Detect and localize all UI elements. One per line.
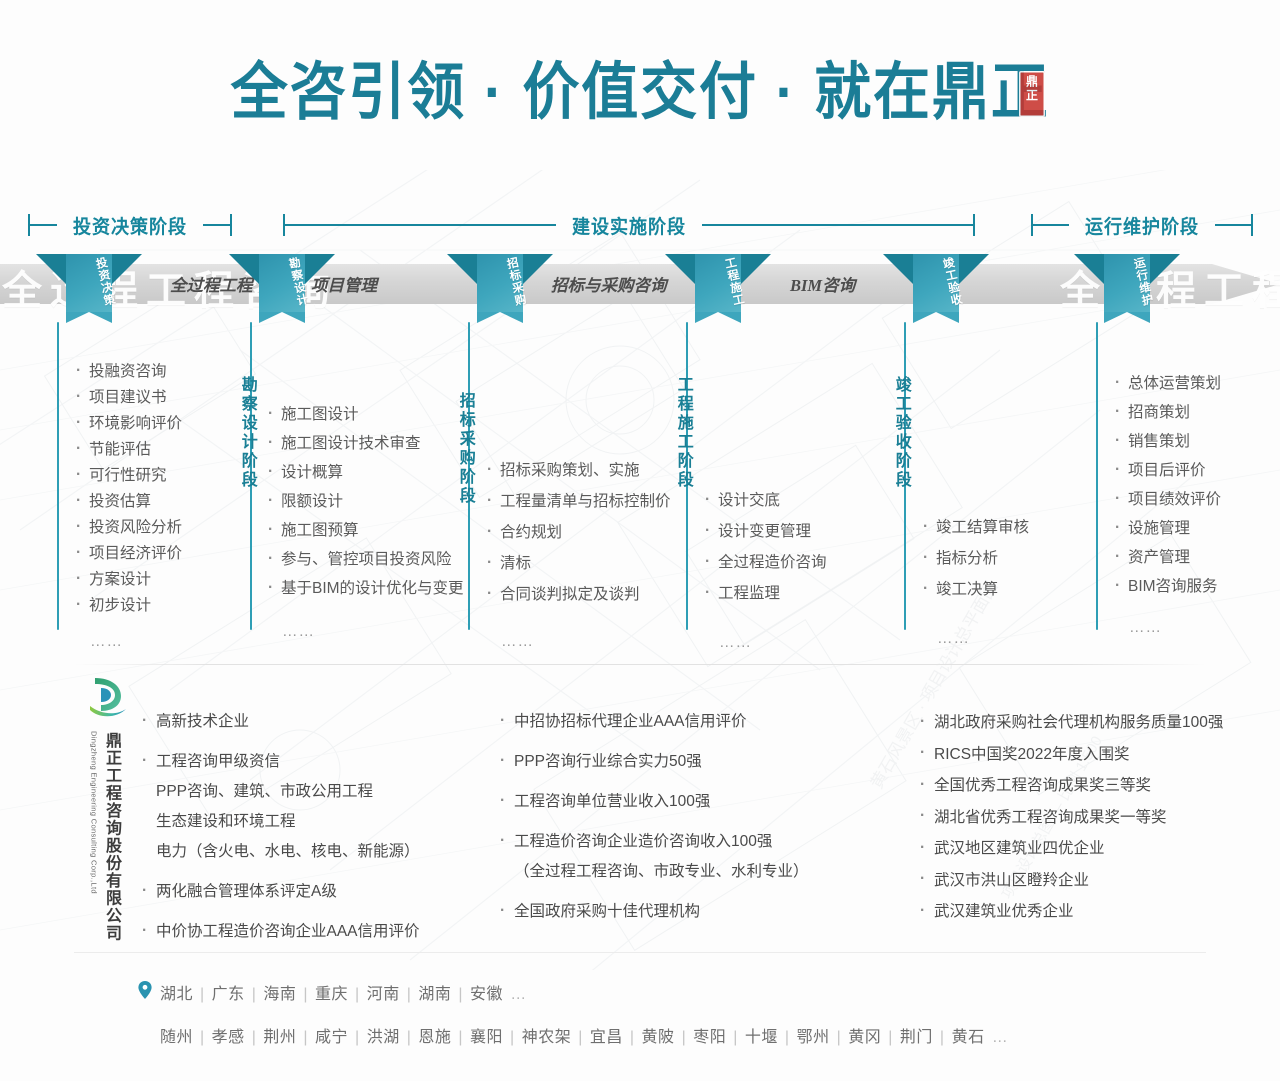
stage-list-construction: 设计交底 设计变更管理 全过程造价咨询 工程监理 …… — [705, 485, 827, 658]
rule-line — [203, 224, 230, 226]
footer-separator: | — [623, 1029, 642, 1046]
ribbon-tail-left — [883, 254, 913, 284]
credential-subitem: 电力（含火电、水电、核电、新能源） — [142, 837, 420, 867]
footer-separator: | — [348, 986, 367, 1003]
infographic-root: 黄石风景区 · 项目设计总平面图 项目设计总图 — 比例 1:500 全咨引领 … — [0, 0, 1280, 1081]
list-item: 施工图设计技术审查 — [268, 429, 464, 458]
rule-line — [1215, 224, 1251, 226]
credentials-column-1: 高新技术企业 工程咨询甲级资信 PPP咨询、建筑、市政公用工程 生态建设和环境工… — [142, 707, 420, 947]
footer-location: 广东 — [212, 986, 245, 1003]
phase-header-investment: 投资决策阶段 — [28, 210, 232, 240]
credential-item: PPP咨询行业综合实力50强 — [500, 747, 809, 777]
list-ellipsis: …… — [923, 623, 1029, 654]
list-item: 投融资咨询 — [76, 359, 182, 385]
ribbon-tail-left — [447, 254, 477, 284]
company-logo-icon — [88, 676, 128, 718]
list-item: 方案设计 — [76, 567, 182, 593]
footer-location: 荆州 — [263, 1029, 296, 1046]
seal-char-2: 正 — [1020, 89, 1044, 102]
credential-item: 湖北省优秀工程咨询成果奖一等奖 — [920, 802, 1223, 834]
ribbon-tag-bidding-procurement: 招标采购 — [477, 254, 523, 322]
credentials-column-2: 中招协招标代理企业AAA信用评价 PPP咨询行业综合实力50强 工程咨询单位营业… — [500, 707, 809, 927]
list-item: 指标分析 — [923, 543, 1029, 574]
footer-separator: | — [675, 1029, 694, 1046]
footer-provinces-row: 湖北|广东|海南|重庆|河南|湖南|安徽... — [160, 980, 526, 1004]
stage-title-survey-design: 勘察设计阶段 — [238, 376, 255, 490]
credential-item: 武汉市洪山区瞪羚企业 — [920, 865, 1223, 897]
list-item: 竣工决算 — [923, 574, 1029, 605]
footer-location: 鄂州 — [797, 1029, 830, 1046]
stage-title-completion: 竣工验收阶段 — [892, 376, 909, 490]
footer-divider — [74, 952, 1206, 953]
ribbon-tag-survey-design: 勘察设计 — [259, 254, 305, 322]
rule-line — [285, 224, 556, 226]
footer-separator: | — [503, 1029, 522, 1046]
list-ellipsis: …… — [76, 629, 182, 655]
footer-separator: | — [451, 1029, 470, 1046]
ribbon-tag-operation-maintenance: 运行维护 — [1104, 254, 1150, 322]
footer-separator: | — [245, 1029, 264, 1046]
phase-header-operation: 运行维护阶段 — [1031, 210, 1253, 240]
footer-cities-row: 随州|孝感|荆州|咸宁|洪湖|恩施|襄阳|神农架|宜昌|黄陂|枣阳|十堰|鄂州|… — [160, 1023, 1007, 1047]
footer-location: 宜昌 — [590, 1029, 623, 1046]
footer-separator: | — [193, 986, 212, 1003]
page-title-wrap: 全咨引领 · 价值交付 · 就在鼎正 — [0, 62, 1280, 124]
credential-subitem: PPP咨询、建筑、市政公用工程 — [142, 777, 420, 807]
list-item: 项目经济评价 — [76, 541, 182, 567]
credential-item: 全国政府采购十佳代理机构 — [500, 897, 809, 927]
credential-item: 武汉建筑业优秀企业 — [920, 896, 1223, 928]
stage-list-survey-design: 施工图设计 施工图设计技术审查 设计概算 限额设计 施工图预算 参与、管控项目投… — [268, 400, 464, 646]
company-seal-stamp: 鼎 正 — [1019, 71, 1045, 117]
rule-cap-right — [230, 214, 232, 236]
footer-location: 黄冈 — [848, 1029, 881, 1046]
footer-location: 咸宁 — [315, 1029, 348, 1046]
list-item: 项目绩效评价 — [1115, 485, 1221, 514]
stage-list-completion: 竣工结算审核 指标分析 竣工决算 …… — [923, 512, 1029, 654]
list-item: 工程监理 — [705, 578, 827, 609]
footer-location: 湖南 — [418, 986, 451, 1003]
list-item: 施工图预算 — [268, 516, 464, 545]
section-divider — [74, 664, 1206, 665]
footer-location: 海南 — [263, 986, 296, 1003]
footer-location: 洪湖 — [367, 1029, 400, 1046]
credential-item: RICS中国奖2022年度入围奖 — [920, 739, 1223, 771]
stage-divider-6 — [1096, 322, 1098, 630]
list-item: 参与、管控项目投资风险 — [268, 545, 464, 574]
list-item: 工程量清单与招标控制价 — [487, 486, 671, 517]
footer-location: 枣阳 — [693, 1029, 726, 1046]
footer-separator: | — [193, 1029, 212, 1046]
location-pin-icon — [138, 981, 152, 999]
list-item: 设计变更管理 — [705, 516, 827, 547]
credential-item: 工程咨询甲级资信 — [142, 747, 420, 777]
credential-subitem: （全过程工程咨询、市政专业、水利专业） — [500, 857, 809, 887]
list-ellipsis: …… — [268, 617, 464, 646]
credential-item: 高新技术企业 — [142, 707, 420, 737]
footer-location: 重庆 — [315, 986, 348, 1003]
credential-item: 两化融合管理体系评定A级 — [142, 877, 420, 907]
company-name-en: Dingzheng Engineering Consulting Corp.,L… — [90, 731, 98, 894]
list-item: 清标 — [487, 548, 671, 579]
ribbon-tail-left — [665, 254, 695, 284]
ribbon-tag-investment-decision: 投资决策 — [66, 254, 112, 322]
stage-list-bidding: 招标采购策划、实施 工程量清单与招标控制价 合约规划 清标 合同谈判拟定及谈判 … — [487, 455, 671, 657]
footer-separator: | — [778, 1029, 797, 1046]
ribbon-tail-left — [1074, 254, 1104, 284]
phase-header-label: 建设实施阶段 — [560, 212, 699, 239]
credential-item: 中价协工程造价咨询企业AAA信用评价 — [142, 917, 420, 947]
ribbon-tail-right — [741, 254, 771, 284]
list-item: 合同谈判拟定及谈判 — [487, 579, 671, 610]
footer-separator: | — [296, 986, 315, 1003]
ribbon-tail-right — [1150, 254, 1180, 284]
footer-separator: | — [348, 1029, 367, 1046]
list-item: 项目建议书 — [76, 385, 182, 411]
list-item: 节能评估 — [76, 437, 182, 463]
credential-item: 湖北政府采购社会代理机构服务质量100强 — [920, 707, 1223, 739]
footer-location: 恩施 — [418, 1029, 451, 1046]
company-name-cn: 鼎正工程咨询股份有限公司 — [103, 732, 119, 942]
list-item: 投资估算 — [76, 489, 182, 515]
list-item: 全过程造价咨询 — [705, 547, 827, 578]
list-item: 设计概算 — [268, 458, 464, 487]
phase-header-label: 投资决策阶段 — [61, 212, 200, 239]
page-title: 全咨引领 · 价值交付 · 就在鼎正 — [230, 62, 1049, 124]
credential-item: 武汉地区建筑业四优企业 — [920, 833, 1223, 865]
list-ellipsis: …… — [705, 627, 827, 658]
footer-separator: | — [881, 1029, 900, 1046]
rule-line — [30, 224, 57, 226]
list-item: 项目后评价 — [1115, 456, 1221, 485]
stage-list-investment: 投融资咨询 项目建议书 环境影响评价 节能评估 可行性研究 投资估算 投资风险分… — [76, 359, 182, 655]
stage-title-construction: 工程施工阶段 — [674, 376, 691, 490]
credential-item: 工程造价咨询企业造价咨询收入100强 — [500, 827, 809, 857]
list-item: 招标采购策划、实施 — [487, 455, 671, 486]
list-item: 环境影响评价 — [76, 411, 182, 437]
seal-char-1: 鼎 — [1020, 76, 1044, 89]
credentials-column-3: 湖北政府采购社会代理机构服务质量100强 RICS中国奖2022年度入围奖 全国… — [920, 707, 1223, 928]
band-label-bim: BIM咨询 — [790, 272, 855, 296]
list-item: 初步设计 — [76, 593, 182, 619]
ribbon-tail-left — [36, 254, 66, 284]
list-item: 合约规划 — [487, 517, 671, 548]
list-item: 基于BIM的设计优化与变更 — [268, 574, 464, 603]
footer-location: 黄陂 — [642, 1029, 675, 1046]
footer-separator: | — [933, 1029, 952, 1046]
footer-location: 湖北 — [160, 986, 193, 1003]
ribbon-tail-right — [523, 254, 553, 284]
list-item: BIM咨询服务 — [1115, 572, 1221, 601]
footer-more-indicator: ... — [985, 1029, 1008, 1046]
list-ellipsis: …… — [487, 626, 671, 657]
list-item: 施工图设计 — [268, 400, 464, 429]
ribbon-tail-right — [112, 254, 142, 284]
rule-line — [702, 224, 973, 226]
ribbon-tail-right — [305, 254, 335, 284]
credential-item: 中招协招标代理企业AAA信用评价 — [500, 707, 809, 737]
footer-separator: | — [571, 1029, 590, 1046]
credential-item: 工程咨询单位营业收入100强 — [500, 787, 809, 817]
list-item: 设施管理 — [1115, 514, 1221, 543]
ribbon-tail-right — [959, 254, 989, 284]
footer-location: 襄阳 — [470, 1029, 503, 1046]
rule-cap-right — [1251, 214, 1253, 236]
stage-list-operation: 总体运营策划 招商策划 销售策划 项目后评价 项目绩效评价 设施管理 资产管理 … — [1115, 369, 1221, 642]
stage-divider-1 — [57, 322, 59, 630]
list-item: 招商策划 — [1115, 398, 1221, 427]
phase-header-label: 运行维护阶段 — [1073, 212, 1212, 239]
footer-location: 十堰 — [745, 1029, 778, 1046]
credential-item: 全国优秀工程咨询成果奖三等奖 — [920, 770, 1223, 802]
footer-separator: | — [245, 986, 264, 1003]
ribbon-tag-completion-acceptance: 竣工验收 — [913, 254, 959, 322]
ribbon-tag-construction: 工程施工 — [695, 254, 741, 322]
footer-location: 安徽 — [470, 986, 503, 1003]
footer-separator: | — [830, 1029, 849, 1046]
ribbon-tail-left — [229, 254, 259, 284]
phase-header-construction: 建设实施阶段 — [283, 210, 975, 240]
footer-location: 随州 — [160, 1029, 193, 1046]
footer-separator: | — [451, 986, 470, 1003]
list-item: 竣工结算审核 — [923, 512, 1029, 543]
footer-location: 孝感 — [212, 1029, 245, 1046]
footer-separator: | — [400, 1029, 419, 1046]
list-item: 设计交底 — [705, 485, 827, 516]
list-item: 总体运营策划 — [1115, 369, 1221, 398]
footer-location: 神农架 — [522, 1029, 572, 1046]
list-ellipsis: …… — [1115, 613, 1221, 642]
list-item: 可行性研究 — [76, 463, 182, 489]
footer-separator: | — [296, 1029, 315, 1046]
credential-subitem: 生态建设和环境工程 — [142, 807, 420, 837]
footer-location: 黄石 — [952, 1029, 985, 1046]
footer-separator: | — [726, 1029, 745, 1046]
footer-separator: | — [400, 986, 419, 1003]
rule-line — [1033, 224, 1069, 226]
footer-location: 荆门 — [900, 1029, 933, 1046]
list-item: 资产管理 — [1115, 543, 1221, 572]
list-item: 投资风险分析 — [76, 515, 182, 541]
list-item: 限额设计 — [268, 487, 464, 516]
footer-location: 河南 — [367, 986, 400, 1003]
band-label-bidding: 招标与采购咨询 — [551, 272, 667, 296]
footer-more-indicator: ... — [503, 986, 526, 1003]
rule-cap-right — [973, 214, 975, 236]
list-item: 销售策划 — [1115, 427, 1221, 456]
